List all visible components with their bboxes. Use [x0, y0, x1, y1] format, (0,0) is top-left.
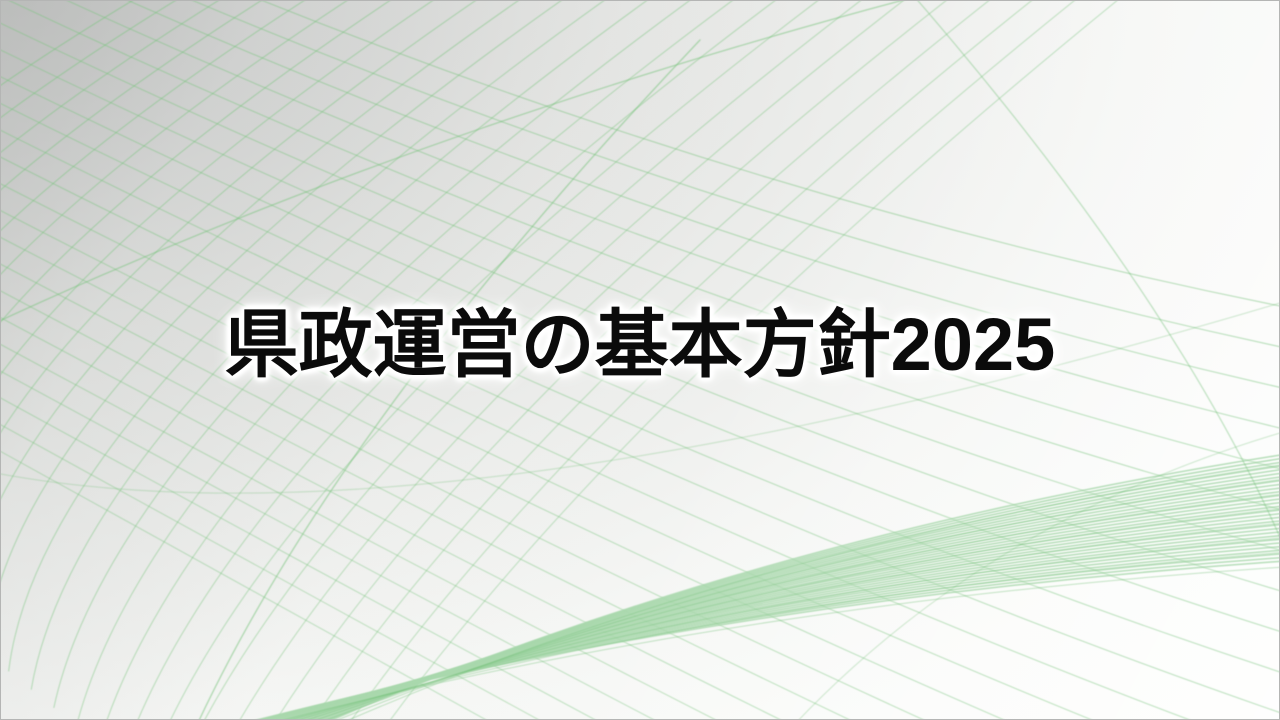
title-block: 県政運営の基本方針2025: [0, 292, 1280, 397]
page-title: 県政運営の基本方針2025: [225, 308, 1056, 382]
curve-ribbon-bundle: [180, 452, 1280, 720]
slide-canvas: 県政運営の基本方針2025: [0, 0, 1280, 720]
